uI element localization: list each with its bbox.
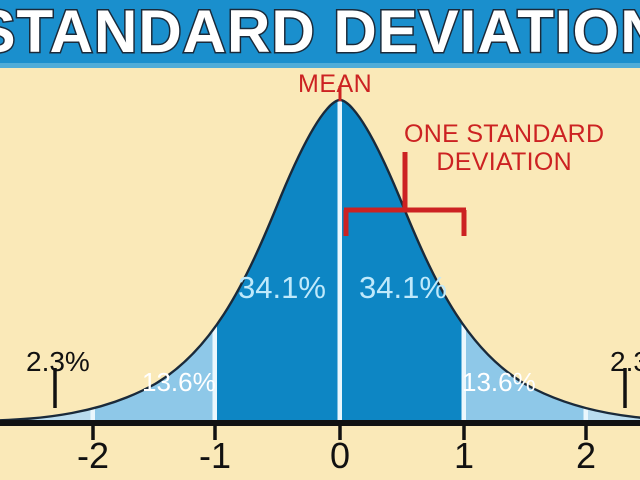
standard-deviation-infographic: STANDARD DEVIATION: [0, 0, 640, 480]
label-right-core-percent: 34.1%: [359, 272, 447, 303]
one-standard-deviation-annotation: ONE STANDARD DEVIATION: [404, 120, 604, 176]
mean-annotation-label: MEAN: [298, 72, 372, 97]
label-right-mid-percent: 13.6%: [462, 369, 536, 395]
divider-mean: [338, 68, 343, 421]
axis-label-zero: 0: [330, 438, 350, 474]
x-axis-baseline: [0, 420, 640, 426]
axis-label-plus-2: 2: [576, 438, 596, 474]
page-title: STANDARD DEVIATION: [0, 2, 640, 62]
divider-minus-2: [91, 68, 96, 421]
one-sd-line-2: DEVIATION: [404, 148, 604, 176]
label-left-mid-percent: 13.6%: [142, 369, 216, 395]
axis-label-minus-2: -2: [77, 438, 109, 474]
axis-label-minus-1: -1: [199, 438, 231, 474]
region-left-core-band: [215, 68, 340, 421]
one-sd-line-1: ONE STANDARD: [404, 120, 604, 148]
axis-label-plus-1: 1: [454, 438, 474, 474]
label-right-tail-percent: 2.3%: [610, 348, 640, 376]
label-left-core-percent: 34.1%: [238, 272, 326, 303]
label-left-tail-percent: 2.3%: [26, 348, 90, 376]
title-banner: STANDARD DEVIATION: [0, 0, 640, 63]
